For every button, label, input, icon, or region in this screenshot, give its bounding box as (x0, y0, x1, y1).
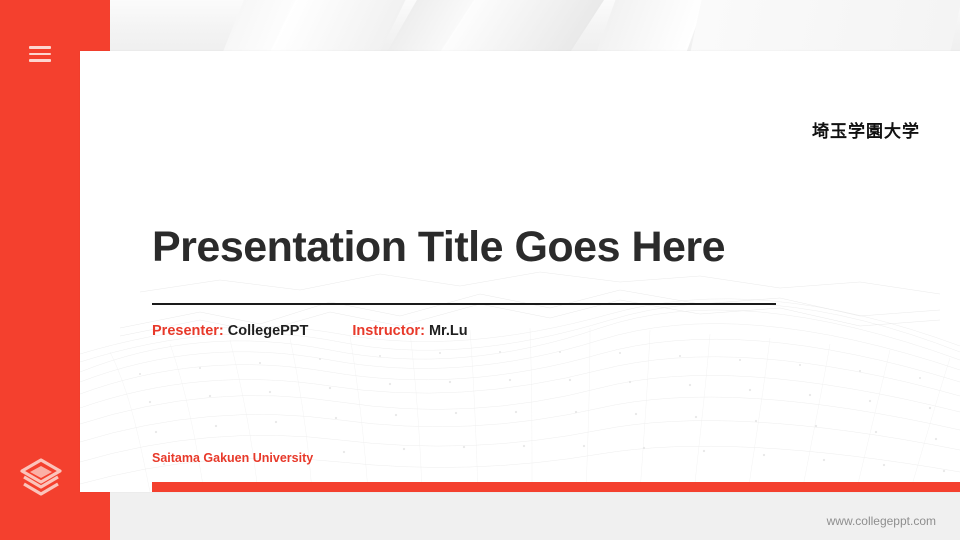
layers-stack-icon (15, 450, 67, 502)
slide-card: 埼玉学園大学 Presentation Title Goes Here Pres… (80, 51, 960, 492)
presenter-value: CollegePPT (228, 323, 309, 339)
hamburger-menu-icon[interactable] (29, 46, 51, 62)
menu-line-3 (29, 59, 51, 62)
menu-line-1 (29, 46, 51, 49)
page-title: Presentation Title Goes Here (152, 223, 725, 272)
instructor-label: Instructor: (352, 323, 425, 339)
presentation-slide: 埼玉学園大学 Presentation Title Goes Here Pres… (0, 0, 960, 540)
footer-university-name: Saitama Gakuen University (152, 451, 313, 465)
university-name-japanese: 埼玉学園大学 (812, 117, 920, 142)
header-background-graphic (110, 0, 960, 52)
presentation-meta: Presenter: CollegePPT Instructor: Mr.Lu (152, 323, 468, 339)
title-divider (152, 303, 776, 305)
bottom-accent-bar (152, 482, 960, 492)
instructor-value: Mr.Lu (429, 323, 468, 339)
presenter-label: Presenter: (152, 323, 224, 339)
menu-line-2 (29, 53, 51, 56)
site-url: www.collegeppt.com (827, 514, 936, 528)
ribbon-shape-6 (676, 0, 960, 52)
